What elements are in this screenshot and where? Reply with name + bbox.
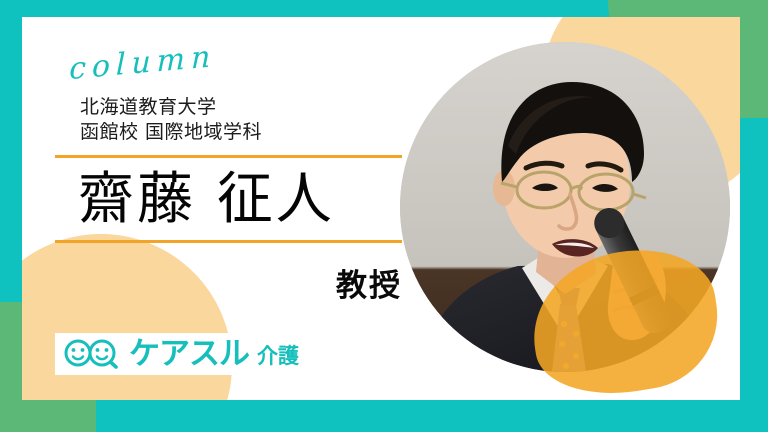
column-banner: column 北海道教育大学 函館校 国際地域学科 齋藤 征人 教授 [0,0,768,432]
column-script-label: column [69,26,404,85]
person-title: 教授 [55,260,402,305]
brand-suffix: 介護 [257,346,299,370]
affiliation-line-2: 函館校 国際地域学科 [80,120,405,145]
brand-logo[interactable]: ケアスル 介護 [55,333,309,375]
smiley-magnifier-icon [90,341,116,367]
smiley-face-icon [66,341,90,365]
profile-text-column: column 北海道教育大学 函館校 国際地域学科 齋藤 征人 教授 [55,41,405,305]
divider-rule-top [55,155,402,158]
smiley-faces-icon [63,338,125,370]
brand-name: ケアスル [129,339,249,370]
divider-rule-bottom [55,240,402,243]
content-card: column 北海道教育大学 函館校 国際地域学科 齋藤 征人 教授 [22,17,740,400]
person-name: 齋藤 征人 [78,170,405,230]
affiliation-line-1: 北海道教育大学 [80,95,405,120]
